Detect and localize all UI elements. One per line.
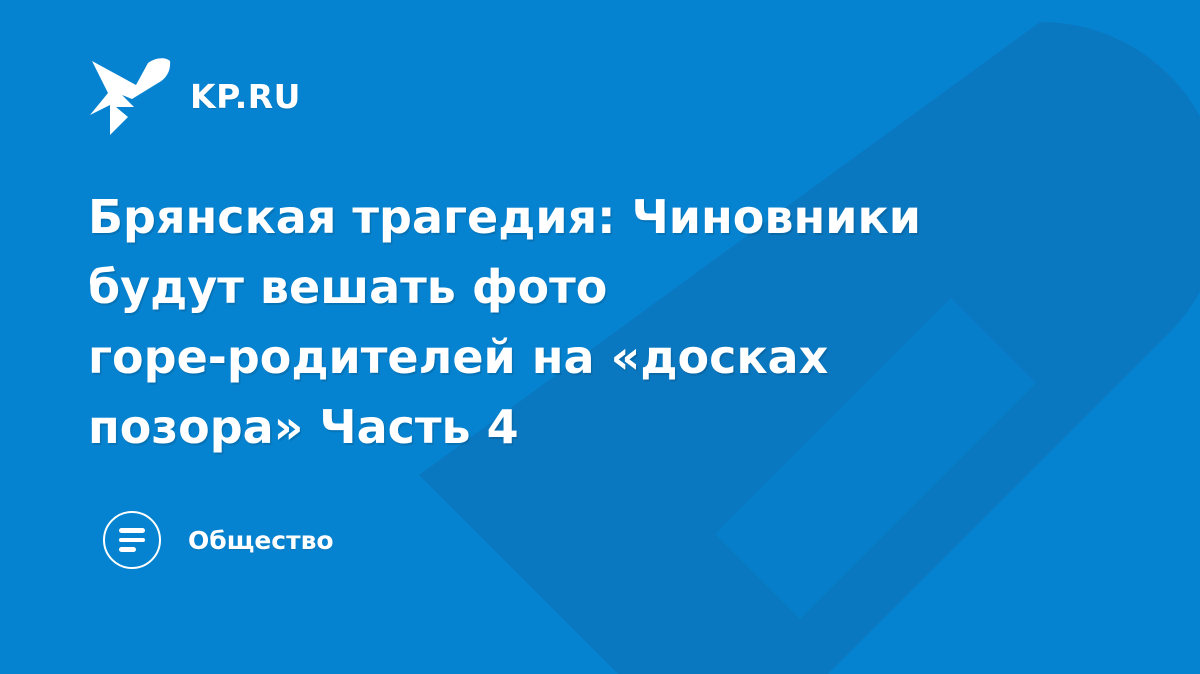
category-badge[interactable]: Общество	[103, 511, 334, 569]
hamburger-bar-3	[119, 547, 136, 552]
hamburger-bar-2	[119, 538, 145, 543]
hamburger-menu-icon	[119, 528, 145, 552]
headline: Брянская трагедия: Чиновники будут вешат…	[88, 182, 1048, 462]
hamburger-bar-1	[119, 528, 145, 533]
article-share-card: KP.RU Брянская трагедия: Чиновники будут…	[0, 0, 1200, 674]
headline-line-1: Брянская трагедия: Чиновники	[88, 182, 1048, 252]
brand-logo[interactable]: KP.RU	[88, 55, 301, 137]
category-icon-circle[interactable]	[103, 511, 161, 569]
category-label: Общество	[188, 528, 334, 553]
headline-line-4: позора» Часть 4	[88, 392, 1048, 462]
headline-line-3: горе-родителей на «досках	[88, 322, 1048, 392]
headline-line-2: будут вешать фото	[88, 252, 1048, 322]
swallow-bird-icon	[88, 55, 172, 137]
brand-wordmark: KP.RU	[190, 80, 301, 113]
